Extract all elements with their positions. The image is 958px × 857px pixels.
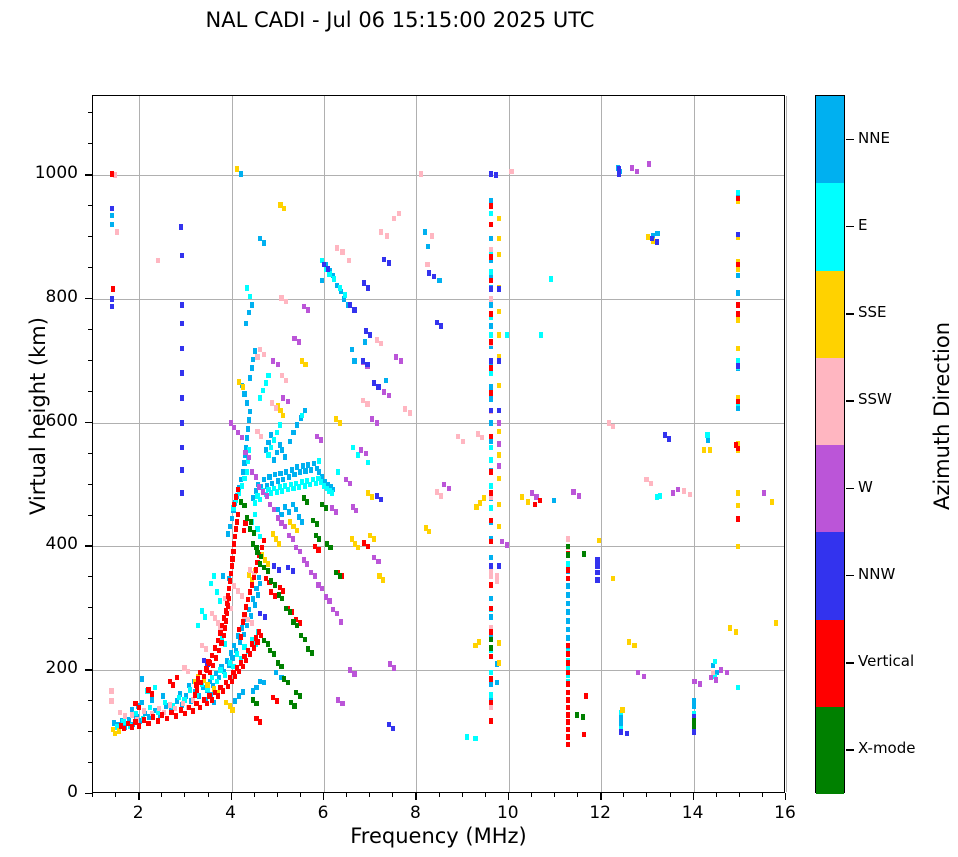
data-point: [340, 701, 344, 707]
data-point: [235, 519, 239, 525]
data-point: [180, 321, 184, 327]
y-tick-minor: [88, 453, 92, 454]
data-point: [297, 339, 301, 345]
colorbar-segment-w[interactable]: [816, 445, 844, 532]
y-axis-title: Virtual height (km): [26, 286, 50, 546]
data-point: [186, 669, 190, 675]
data-point: [272, 457, 276, 463]
data-point: [447, 486, 451, 492]
data-point: [218, 667, 222, 673]
x-tick-minor: [623, 793, 624, 797]
data-point: [566, 536, 570, 542]
data-point: [595, 570, 599, 576]
data-point: [566, 643, 570, 649]
data-point: [241, 619, 245, 625]
data-point: [198, 670, 202, 676]
data-point: [205, 682, 209, 688]
data-point: [489, 629, 493, 635]
data-point: [497, 236, 501, 242]
colorbar-tick: [846, 488, 854, 489]
data-point: [500, 539, 504, 545]
data-point: [595, 577, 599, 583]
data-point: [262, 240, 266, 246]
data-point: [250, 582, 254, 588]
data-point: [489, 539, 493, 545]
data-point: [245, 435, 249, 441]
data-point: [364, 451, 368, 457]
data-point: [465, 734, 469, 740]
data-point: [241, 384, 245, 390]
data-point: [736, 273, 740, 279]
data-point: [352, 358, 356, 364]
colorbar-segment-ssw[interactable]: [816, 358, 844, 445]
data-point: [326, 266, 330, 272]
y-tick-minor: [88, 700, 92, 701]
data-point: [397, 211, 401, 217]
data-point: [497, 640, 501, 646]
data-point: [497, 463, 501, 469]
data-point: [248, 651, 252, 657]
data-point: [317, 536, 321, 542]
data-point: [146, 721, 150, 727]
data-point: [222, 633, 226, 639]
x-tick-minor: [369, 793, 370, 797]
data-point: [456, 434, 460, 440]
data-point: [115, 229, 119, 235]
data-point: [566, 567, 570, 573]
data-point: [489, 670, 493, 676]
data-point: [223, 625, 227, 631]
data-point: [566, 601, 570, 607]
data-point: [241, 469, 245, 475]
data-point: [233, 534, 237, 540]
data-point: [226, 531, 230, 537]
data-point: [327, 271, 331, 277]
data-point: [698, 681, 702, 687]
data-point: [391, 726, 395, 732]
data-point: [736, 399, 740, 405]
y-tick-minor: [88, 607, 92, 608]
data-point: [193, 692, 197, 698]
data-point: [350, 347, 354, 353]
y-tick-minor: [88, 515, 92, 516]
data-point: [254, 586, 258, 592]
data-point: [233, 698, 237, 704]
data-point: [489, 705, 493, 711]
data-point: [230, 563, 234, 569]
data-point: [489, 637, 493, 643]
data-point: [642, 674, 646, 680]
data-point: [208, 670, 212, 676]
data-point: [620, 707, 624, 713]
data-point: [255, 639, 259, 645]
data-point: [303, 637, 307, 643]
data-point: [432, 274, 436, 280]
x-tick-minor: [277, 793, 278, 797]
data-point: [489, 396, 493, 402]
data-point: [239, 634, 243, 640]
data-point: [489, 676, 493, 682]
colorbar-segment-nnw[interactable]: [816, 532, 844, 619]
data-point: [385, 233, 389, 239]
data-point: [489, 692, 493, 698]
data-point: [153, 685, 157, 691]
data-point: [497, 476, 501, 482]
colorbar-tick: [846, 400, 854, 401]
data-point: [230, 516, 234, 522]
data-point: [250, 365, 254, 371]
data-point: [260, 545, 264, 551]
x-axis-title: Frequency (MHz): [92, 824, 785, 848]
data-point: [736, 363, 740, 369]
data-point: [736, 262, 740, 268]
data-point: [302, 304, 306, 310]
data-point: [566, 576, 570, 582]
data-point: [256, 592, 260, 598]
data-point: [595, 557, 599, 563]
data-point: [489, 483, 493, 489]
gridline-vertical: [139, 96, 140, 792]
data-point: [489, 339, 493, 345]
data-point: [427, 529, 431, 535]
gridline-vertical: [416, 96, 417, 792]
data-point: [379, 341, 383, 347]
data-point: [266, 373, 270, 379]
data-point: [362, 540, 366, 546]
x-tick: [600, 793, 601, 800]
page-title: NAL CADI - Jul 06 15:15:00 2025 UTC: [0, 8, 800, 32]
data-point: [497, 408, 501, 414]
data-point: [247, 455, 251, 461]
data-point: [248, 409, 252, 415]
data-point: [251, 357, 255, 363]
data-point: [179, 707, 183, 713]
data-point: [379, 229, 383, 235]
data-point: [566, 561, 570, 567]
data-point: [258, 581, 262, 587]
data-point: [286, 487, 290, 493]
y-tick: [85, 793, 92, 794]
data-point: [298, 693, 302, 699]
data-point: [180, 346, 184, 352]
x-tick-minor: [646, 793, 647, 797]
y-tick: [85, 174, 92, 175]
colorbar-label-e: E: [858, 216, 867, 234]
data-point: [566, 627, 570, 633]
data-point: [324, 505, 328, 511]
data-point: [238, 639, 242, 645]
data-point: [538, 498, 542, 504]
data-point: [489, 457, 493, 463]
data-point: [328, 545, 332, 551]
y-tick: [85, 545, 92, 546]
data-point: [137, 705, 141, 711]
data-point: [252, 645, 256, 651]
data-point: [702, 447, 706, 453]
data-point: [644, 477, 648, 483]
data-point: [351, 445, 355, 451]
data-point: [497, 286, 501, 292]
data-point: [582, 732, 586, 738]
data-point: [277, 541, 281, 547]
data-point: [571, 489, 575, 495]
data-point: [734, 442, 738, 448]
data-point: [489, 408, 493, 414]
data-point: [309, 467, 313, 473]
data-point: [310, 650, 314, 656]
data-point: [250, 302, 254, 308]
colorbar-tick: [846, 749, 854, 750]
data-point: [109, 688, 113, 694]
data-point: [281, 395, 285, 401]
data-point: [303, 468, 307, 474]
x-tick-minor: [739, 793, 740, 797]
data-point: [489, 681, 493, 687]
colorbar-title: Azimuth Direction: [930, 286, 954, 546]
data-point: [236, 512, 240, 518]
x-tick-minor: [208, 793, 209, 797]
data-point: [356, 545, 360, 551]
data-point: [262, 352, 266, 358]
data-point: [584, 693, 588, 699]
data-point: [338, 420, 342, 426]
data-point: [266, 452, 270, 458]
data-point: [364, 328, 368, 334]
data-point: [728, 625, 732, 631]
data-point: [236, 487, 240, 493]
data-point: [275, 489, 279, 495]
colorbar-segment-vertical[interactable]: [816, 620, 844, 707]
colorbar[interactable]: [815, 95, 845, 793]
data-point: [636, 670, 640, 676]
data-point: [305, 499, 309, 505]
data-point: [292, 472, 296, 478]
data-point: [497, 563, 501, 569]
data-point: [226, 603, 230, 609]
data-point: [435, 489, 439, 495]
data-point: [240, 483, 244, 489]
data-point: [230, 707, 234, 713]
data-point: [271, 358, 275, 364]
x-tick-minor: [161, 793, 162, 797]
data-point: [117, 728, 121, 734]
data-point: [566, 552, 570, 558]
data-point: [110, 296, 114, 302]
data-point: [582, 551, 586, 557]
data-point: [181, 701, 185, 707]
data-point: [714, 677, 718, 683]
data-point: [317, 458, 321, 464]
colorbar-segment-sse[interactable]: [816, 271, 844, 358]
data-point: [248, 294, 252, 300]
data-point: [245, 400, 249, 406]
data-point: [375, 420, 379, 426]
data-point: [392, 665, 396, 671]
data-point: [284, 299, 288, 305]
data-point: [480, 435, 484, 441]
colorbar-segment-nne[interactable]: [816, 96, 844, 183]
data-point: [489, 390, 493, 396]
data-point: [269, 445, 273, 451]
data-point: [179, 224, 183, 230]
data-point: [736, 196, 740, 202]
data-point: [489, 171, 493, 177]
data-point: [180, 253, 184, 259]
data-point: [736, 503, 740, 509]
data-point: [196, 676, 200, 682]
data-point: [316, 547, 320, 553]
y-tick: [85, 298, 92, 299]
colorbar-tick: [846, 575, 854, 576]
data-point: [230, 679, 234, 685]
data-point: [399, 358, 403, 364]
x-tick-minor: [762, 793, 763, 797]
data-point: [291, 568, 295, 574]
colorbar-segment-e[interactable]: [816, 183, 844, 270]
data-point: [252, 575, 256, 581]
data-point: [196, 623, 200, 629]
data-point: [706, 437, 710, 443]
data-point: [234, 494, 238, 500]
data-point: [497, 358, 501, 364]
data-point: [110, 304, 114, 310]
data-point: [253, 602, 257, 608]
x-tick: [693, 793, 694, 800]
data-point: [692, 723, 696, 729]
x-tick: [415, 793, 416, 800]
colorbar-tick: [846, 662, 854, 663]
x-tick-minor: [531, 793, 532, 797]
data-point: [419, 171, 423, 177]
data-point: [566, 712, 570, 718]
data-point: [494, 172, 498, 178]
data-point: [497, 332, 501, 338]
data-point: [336, 469, 340, 475]
data-point: [206, 659, 210, 665]
y-tick-label: 1000: [8, 163, 78, 183]
data-point: [338, 285, 342, 291]
data-point: [280, 596, 284, 602]
data-point: [122, 726, 126, 732]
x-tick-label: 10: [478, 803, 538, 823]
data-point: [150, 691, 154, 697]
data-point: [736, 190, 740, 196]
colorbar-label-w: W: [858, 478, 873, 496]
data-point: [272, 437, 276, 443]
data-point: [505, 332, 509, 338]
data-point: [209, 581, 213, 587]
data-point: [709, 675, 713, 681]
data-point: [183, 711, 187, 717]
data-point: [617, 171, 621, 177]
data-point: [204, 646, 208, 652]
data-point: [291, 486, 295, 492]
data-point: [151, 714, 155, 720]
y-tick: [85, 669, 92, 670]
plot-area[interactable]: [92, 95, 785, 793]
data-point: [566, 734, 570, 740]
data-point: [225, 611, 229, 617]
data-point: [241, 664, 245, 670]
data-point: [597, 538, 601, 544]
data-point: [294, 507, 298, 513]
x-tick-minor: [462, 793, 463, 797]
data-point: [174, 713, 178, 719]
data-point: [157, 706, 161, 712]
data-point: [688, 492, 692, 498]
data-point: [180, 490, 184, 496]
data-point: [489, 222, 493, 228]
y-tick-minor: [88, 638, 92, 639]
data-point: [762, 490, 766, 496]
data-point: [150, 697, 154, 703]
data-point: [110, 213, 114, 219]
data-point: [204, 666, 208, 672]
data-point: [489, 203, 493, 209]
data-point: [230, 556, 234, 562]
data-point: [252, 530, 256, 536]
data-point: [437, 278, 441, 284]
data-point: [376, 559, 380, 565]
colorbar-label-ssw: SSW: [858, 390, 892, 408]
data-point: [286, 565, 290, 571]
data-point: [361, 398, 365, 404]
data-point: [632, 643, 636, 649]
data-point: [348, 302, 352, 308]
y-tick: [85, 422, 92, 423]
data-point: [566, 697, 570, 703]
data-point: [375, 493, 379, 499]
data-point: [489, 505, 493, 511]
data-point: [234, 526, 238, 532]
data-point: [566, 618, 570, 624]
data-point: [232, 541, 236, 547]
data-point: [202, 674, 206, 680]
data-point: [291, 430, 295, 436]
data-point: [223, 641, 227, 647]
data-point: [259, 434, 263, 440]
x-tick-minor: [254, 793, 255, 797]
data-point: [165, 716, 169, 722]
data-point: [253, 500, 257, 506]
data-point: [520, 494, 524, 500]
gridline-horizontal: [93, 175, 784, 176]
data-point: [274, 670, 278, 676]
data-point: [736, 317, 740, 323]
data-point: [382, 257, 386, 263]
data-point: [497, 309, 501, 315]
data-point: [671, 490, 675, 496]
data-point: [109, 698, 113, 704]
data-point: [489, 563, 493, 569]
data-point: [736, 232, 740, 238]
data-point: [110, 206, 114, 212]
colorbar-segment-x-mode[interactable]: [816, 707, 844, 794]
data-point: [439, 493, 443, 499]
data-point: [650, 236, 654, 242]
data-point: [237, 669, 241, 675]
data-point: [140, 676, 144, 682]
data-point: [292, 703, 296, 709]
data-point: [254, 567, 258, 573]
data-point: [237, 627, 241, 633]
data-point: [283, 524, 287, 530]
data-point: [489, 296, 493, 302]
y-tick-minor: [88, 143, 92, 144]
data-point: [365, 401, 369, 407]
data-point: [736, 405, 740, 411]
data-point: [221, 688, 225, 694]
